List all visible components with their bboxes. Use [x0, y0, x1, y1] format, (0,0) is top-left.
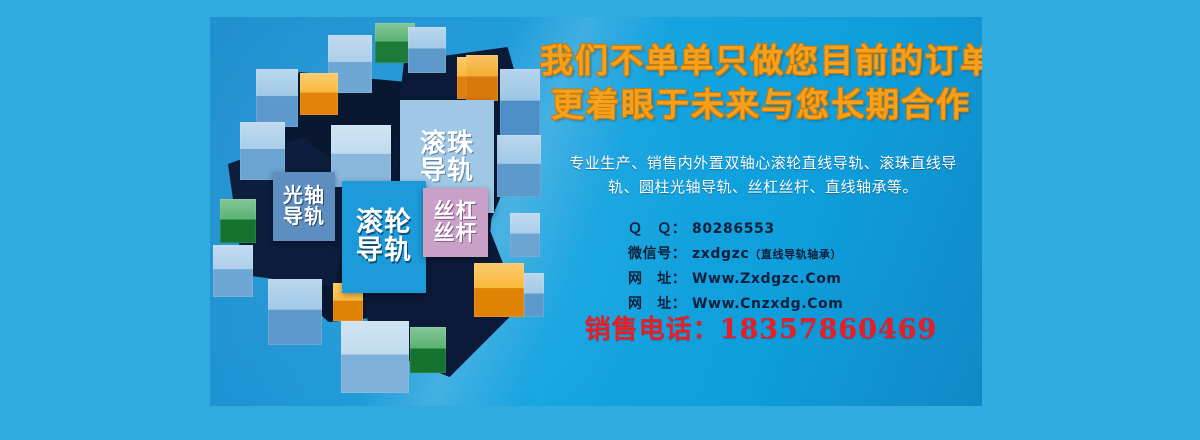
decorative-cube — [220, 199, 256, 243]
contact-row-wechat: 微信号： zxdgzc （直线导轨轴承） — [628, 242, 948, 267]
contact-label: 微信号： — [628, 242, 692, 267]
decorative-cube — [500, 69, 540, 137]
decorative-cube — [510, 213, 540, 257]
cube-label-line1: 光轴 — [283, 186, 325, 206]
cube-label-line1: 滚轮 — [356, 209, 412, 237]
decorative-cube — [213, 245, 253, 297]
cube-label-sigang-sigan[interactable]: 丝杠 丝杆 — [423, 188, 488, 257]
sales-phone-number[interactable]: 18357860469 — [720, 314, 938, 345]
decorative-cube — [410, 327, 446, 373]
decorative-cube — [408, 27, 446, 73]
cube-label-line2: 丝杆 — [434, 223, 478, 244]
decorative-cube — [268, 279, 322, 345]
cube-label-line1: 丝杠 — [434, 201, 478, 222]
contact-row-website-1: 网 址： Www.Zxdgzc.Com — [628, 267, 948, 292]
contact-label: 网 址： — [628, 267, 692, 292]
description-text: 专业生产、销售内外置双轴心滚轮直线导轨、滚珠直线导轨、圆柱光轴导轨、丝杠丝杆、直… — [558, 151, 968, 200]
cube-cluster-graphic: 滚珠 导轨 光轴 导轨 滚轮 导轨 丝杠 丝杆 — [210, 17, 540, 406]
decorative-cube — [474, 263, 524, 317]
contact-value-website-1[interactable]: Www.Zxdgzc.Com — [692, 267, 842, 292]
decorative-cube — [300, 73, 338, 115]
promo-banner: 滚珠 导轨 光轴 导轨 滚轮 导轨 丝杠 丝杆 我们不单单只做您目前的订单 更着… — [210, 17, 982, 406]
cube-label-line1: 滚珠 — [420, 130, 474, 157]
decorative-cube — [497, 135, 541, 197]
headline: 我们不单单只做您目前的订单 更着眼于未来与您长期合作 — [540, 39, 982, 126]
contact-row-qq: Ｑ Ｑ： 80286553 — [628, 217, 948, 242]
cube-label-line2: 导轨 — [283, 207, 325, 227]
headline-line-2: 更着眼于未来与您长期合作 — [540, 83, 982, 127]
page-root: 滚珠 导轨 光轴 导轨 滚轮 导轨 丝杠 丝杆 我们不单单只做您目前的订单 更着… — [0, 0, 1200, 440]
cube-label-guangzhou-daogui[interactable]: 光轴 导轨 — [273, 172, 335, 241]
contact-label: Ｑ Ｑ： — [628, 217, 692, 242]
decorative-cube — [256, 69, 298, 127]
decorative-cube — [331, 125, 391, 187]
contact-note-wechat: （直线导轨轴承） — [749, 245, 842, 265]
decorative-cube — [466, 55, 498, 101]
contact-block: Ｑ Ｑ： 80286553 微信号： zxdgzc （直线导轨轴承） 网 址： … — [628, 217, 948, 317]
cube-label-gunlun-daogui[interactable]: 滚轮 导轨 — [342, 181, 426, 293]
cube-label-line2: 导轨 — [420, 157, 474, 184]
decorative-cube — [341, 321, 409, 393]
contact-value-qq[interactable]: 80286553 — [692, 217, 775, 242]
sales-phone-label: 销售电话： — [585, 315, 720, 345]
contact-value-wechat[interactable]: zxdgzc — [692, 242, 749, 267]
banner-content: 我们不单单只做您目前的订单 更着眼于未来与您长期合作 专业生产、销售内外置双轴心… — [540, 17, 982, 406]
headline-line-1: 我们不单单只做您目前的订单 — [540, 41, 982, 80]
cube-label-line2: 导轨 — [356, 237, 412, 265]
sales-phone[interactable]: 销售电话：18357860469 — [540, 309, 982, 346]
